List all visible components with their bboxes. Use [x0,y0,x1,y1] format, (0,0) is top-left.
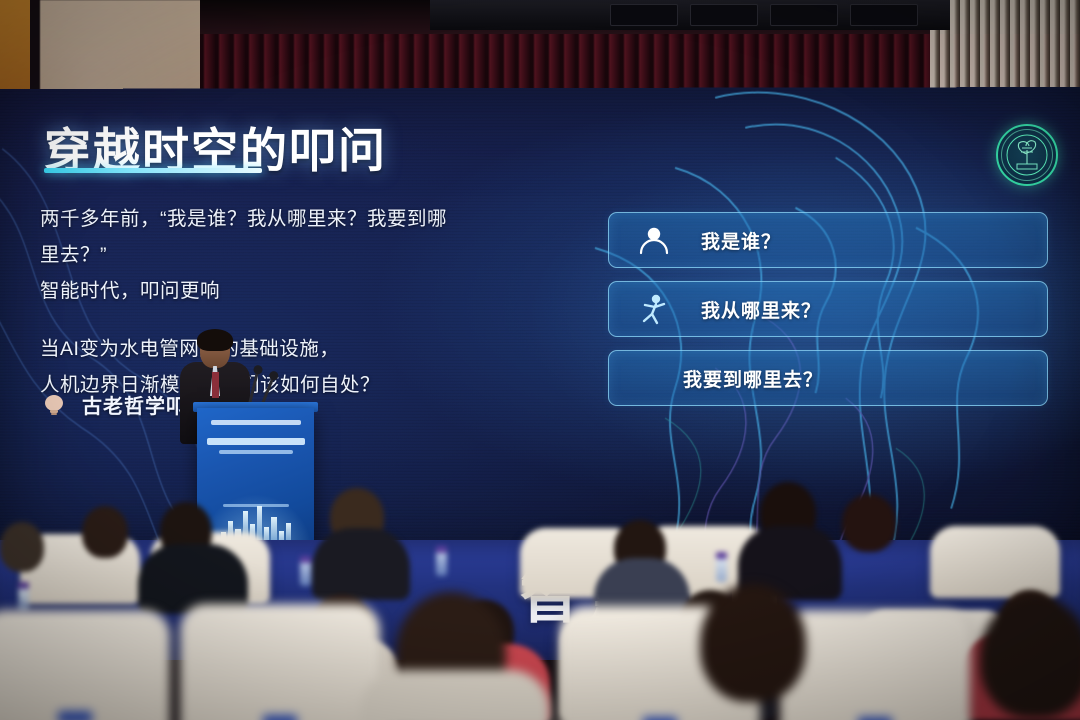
podium-subtitle-line [219,450,293,454]
water-bottle [716,552,727,582]
capital-tree-logo [996,124,1058,186]
audience-head [700,584,806,702]
chair [180,604,380,720]
question-card-who-am-i[interactable]: 我是谁？ [608,212,1048,268]
podium-title-line [207,438,305,445]
stage-light [850,4,918,26]
person-icon [631,223,677,257]
audience-head [842,494,896,552]
body-line: 里去？” [40,237,550,273]
audience-head [82,506,128,558]
question-card-label: 我是谁？ [701,227,781,254]
body-line: 智能时代，叩问更响 [40,273,550,309]
chair [780,610,970,720]
running-person-icon [631,292,677,326]
audience-head [980,596,1080,718]
speaker-hair [197,329,233,351]
foreground-audience [0,600,1080,720]
audience-shoulder [312,528,410,600]
speaker-tie [212,372,219,398]
water-bottle [300,556,311,586]
water-bottle [436,546,447,576]
chair [930,526,1060,598]
question-card-label: 我要到哪里去？ [683,365,823,392]
conference-stage-photo: 穿越时空的叩问 两千多年前，“我是谁？我从哪里来？我要到哪 里去？” 智能时代，… [0,0,1080,720]
stage-light [690,4,758,26]
body-line: 当AI变为水电管网般的基础设施， [40,331,550,367]
chair [0,610,170,720]
lighting-truss [430,0,950,30]
body-line: 两千多年前，“我是谁？我从哪里来？我要到哪 [40,201,550,237]
lightbulb-icon [40,393,68,417]
audience-shoulder [360,670,550,720]
question-card-where-from[interactable]: 我从哪里来？ [608,281,1048,337]
podium-org-line [211,420,301,425]
question-card-list: 我是谁？ 我从哪里来？ [608,212,1048,419]
stage-light [610,4,678,26]
question-card-label: 我从哪里来？ [701,296,821,323]
title-underline [44,168,262,173]
slide-body-text: 两千多年前，“我是谁？我从哪里来？我要到哪 里去？” 智能时代，叩问更响 当AI… [40,201,550,403]
audience-head [0,522,44,572]
stage-light [770,4,838,26]
question-card-where-to[interactable]: 我要到哪里去？ [608,350,1048,406]
